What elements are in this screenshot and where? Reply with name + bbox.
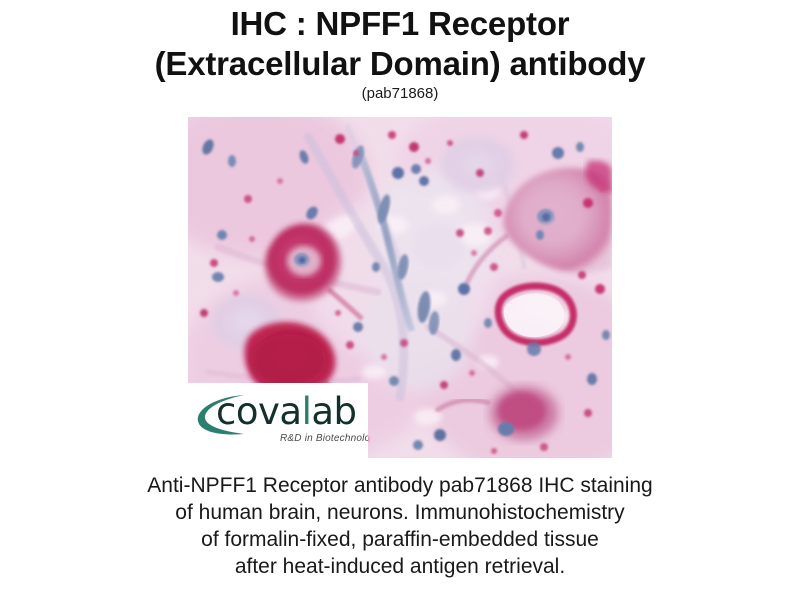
page-title-line-1: IHC : NPFF1 Receptor (0, 4, 800, 44)
caption-line-3: of formalin-fixed, paraffin-embedded tis… (0, 526, 800, 553)
caption-line-2: of human brain, neurons. Immunohistochem… (0, 499, 800, 526)
figure-caption: Anti-NPFF1 Receptor antibody pab71868 IH… (0, 472, 800, 580)
figure-title-block: IHC : NPFF1 Receptor (Extracellular Doma… (0, 4, 800, 103)
covalab-watermark: covalab R&D in Biotechnology (188, 383, 368, 458)
wordmark-part-l: l (302, 390, 312, 433)
catalog-number: (pab71868) (0, 85, 800, 103)
covalab-tagline: R&D in Biotechnology (280, 433, 368, 444)
caption-line-1: Anti-NPFF1 Receptor antibody pab71868 IH… (0, 472, 800, 499)
ihc-product-figure: { "figure": { "title_lines": [ "IHC : NP… (0, 0, 800, 600)
wordmark-part-2: ab (311, 390, 356, 433)
covalab-logo: covalab (188, 389, 368, 437)
wordmark-part-1: cova (216, 390, 302, 433)
covalab-wordmark: covalab (216, 389, 357, 435)
page-title-line-2: (Extracellular Domain) antibody (0, 44, 800, 84)
caption-line-4: after heat-induced antigen retrieval. (0, 553, 800, 580)
